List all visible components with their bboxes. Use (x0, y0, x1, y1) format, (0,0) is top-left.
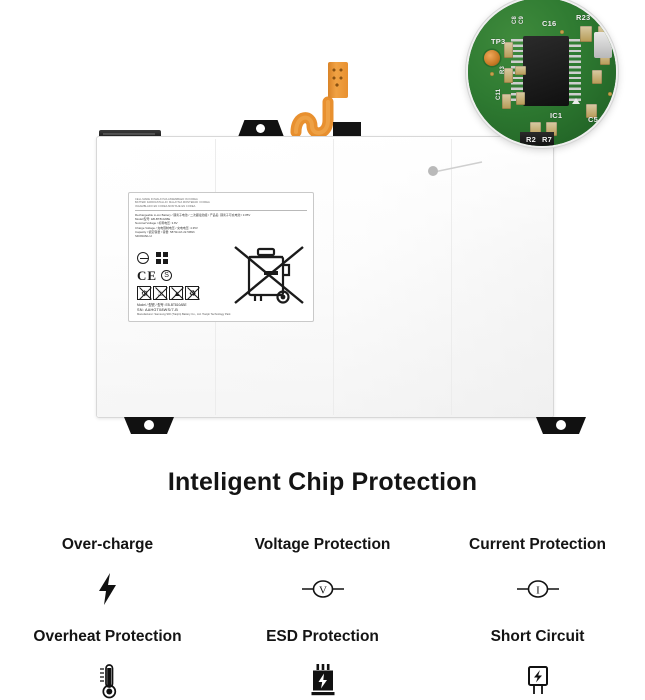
do-not-disassemble-icon: ⚙ (137, 286, 151, 300)
feature-label: Current Protection (430, 536, 645, 554)
infographic-page: CELL MADE IN MALAYSIA ASSEMBLED IN KOREA… (0, 0, 645, 700)
ammeter-icon: I (430, 568, 645, 610)
feature-label: Over-charge (0, 536, 215, 554)
lightning-bolt-icon (0, 568, 215, 610)
do-not-dispose-icon: ♻ (185, 286, 199, 300)
silkscreen-ic1: IC1 (550, 112, 562, 120)
pcb-magnifier: TP3 C16 R23 R24 C5 IC1 R2 R7 C8 C9 R3 C1… (466, 0, 618, 148)
via (608, 92, 612, 96)
mounting-hole (256, 124, 265, 133)
mounting-tab-bottom-right (536, 417, 586, 434)
label-divider (135, 210, 307, 211)
data-matrix-icon (156, 252, 168, 264)
silkscreen-r23: R23 (576, 14, 590, 22)
feature-overheat-protection: Overheat Protection (0, 628, 215, 700)
smd-resistor (516, 92, 525, 105)
magnifier-anchor-dot (428, 166, 438, 176)
silkscreen-c11: C11 (496, 89, 503, 100)
svg-text:V: V (319, 585, 327, 597)
features-row-2: Overheat Protection ESD Protection (0, 628, 645, 700)
silkscreen-c9: C9 (519, 16, 526, 24)
smd-resistor (502, 94, 511, 109)
voltmeter-icon: V (215, 568, 430, 610)
smd-resistor (592, 70, 602, 84)
features-grid: Over-charge Voltage Protection V (0, 536, 645, 700)
silkscreen-c8: C8 (512, 16, 519, 24)
smd-resistor (580, 26, 592, 42)
mounting-hole (144, 420, 154, 430)
ce-mark-icon: CE (137, 269, 157, 282)
test-point-pad (484, 50, 500, 66)
mosfet-package (594, 32, 612, 58)
silkscreen-c16: C16 (542, 20, 556, 28)
magnifier-leader-line (432, 160, 484, 182)
thermometer-icon (0, 660, 215, 700)
silkscreen-r7: R7 (542, 136, 552, 144)
label-manufacturer-text: Manufacturer: Samsung SDI (Tianjin) Batt… (137, 313, 307, 317)
short-circuit-icon (430, 660, 645, 700)
mounting-tab-top (238, 120, 284, 137)
features-row-1: Over-charge Voltage Protection V (0, 536, 645, 628)
feature-label: Short Circuit (430, 628, 645, 646)
protection-ic (523, 36, 569, 106)
feature-esd-protection: ESD Protection (215, 628, 430, 700)
via (560, 30, 564, 34)
spec-line: SDI/KR/EU-2 (135, 234, 307, 238)
esd-module-icon (215, 660, 430, 700)
feature-label: ESD Protection (215, 628, 430, 646)
silkscreen-r24: R24 (595, 14, 609, 22)
silkscreen-r2: R2 (526, 136, 536, 144)
regulatory-line: INGAMBLADO EN COREA MONTAJE EN COREA (135, 205, 307, 208)
feature-over-charge: Over-charge (0, 536, 215, 628)
svg-text:I: I (536, 585, 540, 597)
feature-label: Overheat Protection (0, 628, 215, 646)
feature-label: Voltage Protection (215, 536, 430, 554)
polarity-marker-icon (572, 98, 580, 104)
mounting-hole (556, 420, 566, 430)
silkscreen-tp3: TP3 (491, 38, 505, 46)
page-title: Inteligent Chip Protection (0, 468, 645, 497)
flex-cable-contacts (330, 66, 346, 90)
flex-cable-tail (328, 62, 348, 98)
feature-voltage-protection: Voltage Protection V (215, 536, 430, 628)
via (490, 72, 494, 76)
s-mark-icon: S (161, 270, 172, 281)
feature-current-protection: Current Protection I (430, 536, 645, 628)
product-photo: CELL MADE IN MALAYSIA ASSEMBLED IN KOREA… (0, 0, 645, 455)
ic-pins-right (569, 39, 581, 103)
mounting-tab-bottom-left (124, 417, 174, 434)
silkscreen-c5: C5 (588, 116, 598, 124)
battery-spec-label: CELL MADE IN MALAYSIA ASSEMBLED IN KOREA… (128, 192, 314, 322)
feature-short-circuit: Short Circuit (430, 628, 645, 700)
recycle-loop-icon (137, 252, 149, 264)
silkscreen-r3: R3 (500, 66, 507, 74)
weee-crossed-bin-icon (231, 241, 307, 307)
do-not-crush-icon: ▲ (169, 286, 183, 300)
smd-capacitor (515, 66, 526, 75)
pcb-board: TP3 C16 R23 R24 C5 IC1 R2 R7 C8 C9 R3 C1… (468, 0, 616, 146)
certification-marks: CE S ⚙ ♨ ▲ ♻ (137, 251, 215, 300)
do-not-incinerate-icon: ♨ (153, 286, 167, 300)
